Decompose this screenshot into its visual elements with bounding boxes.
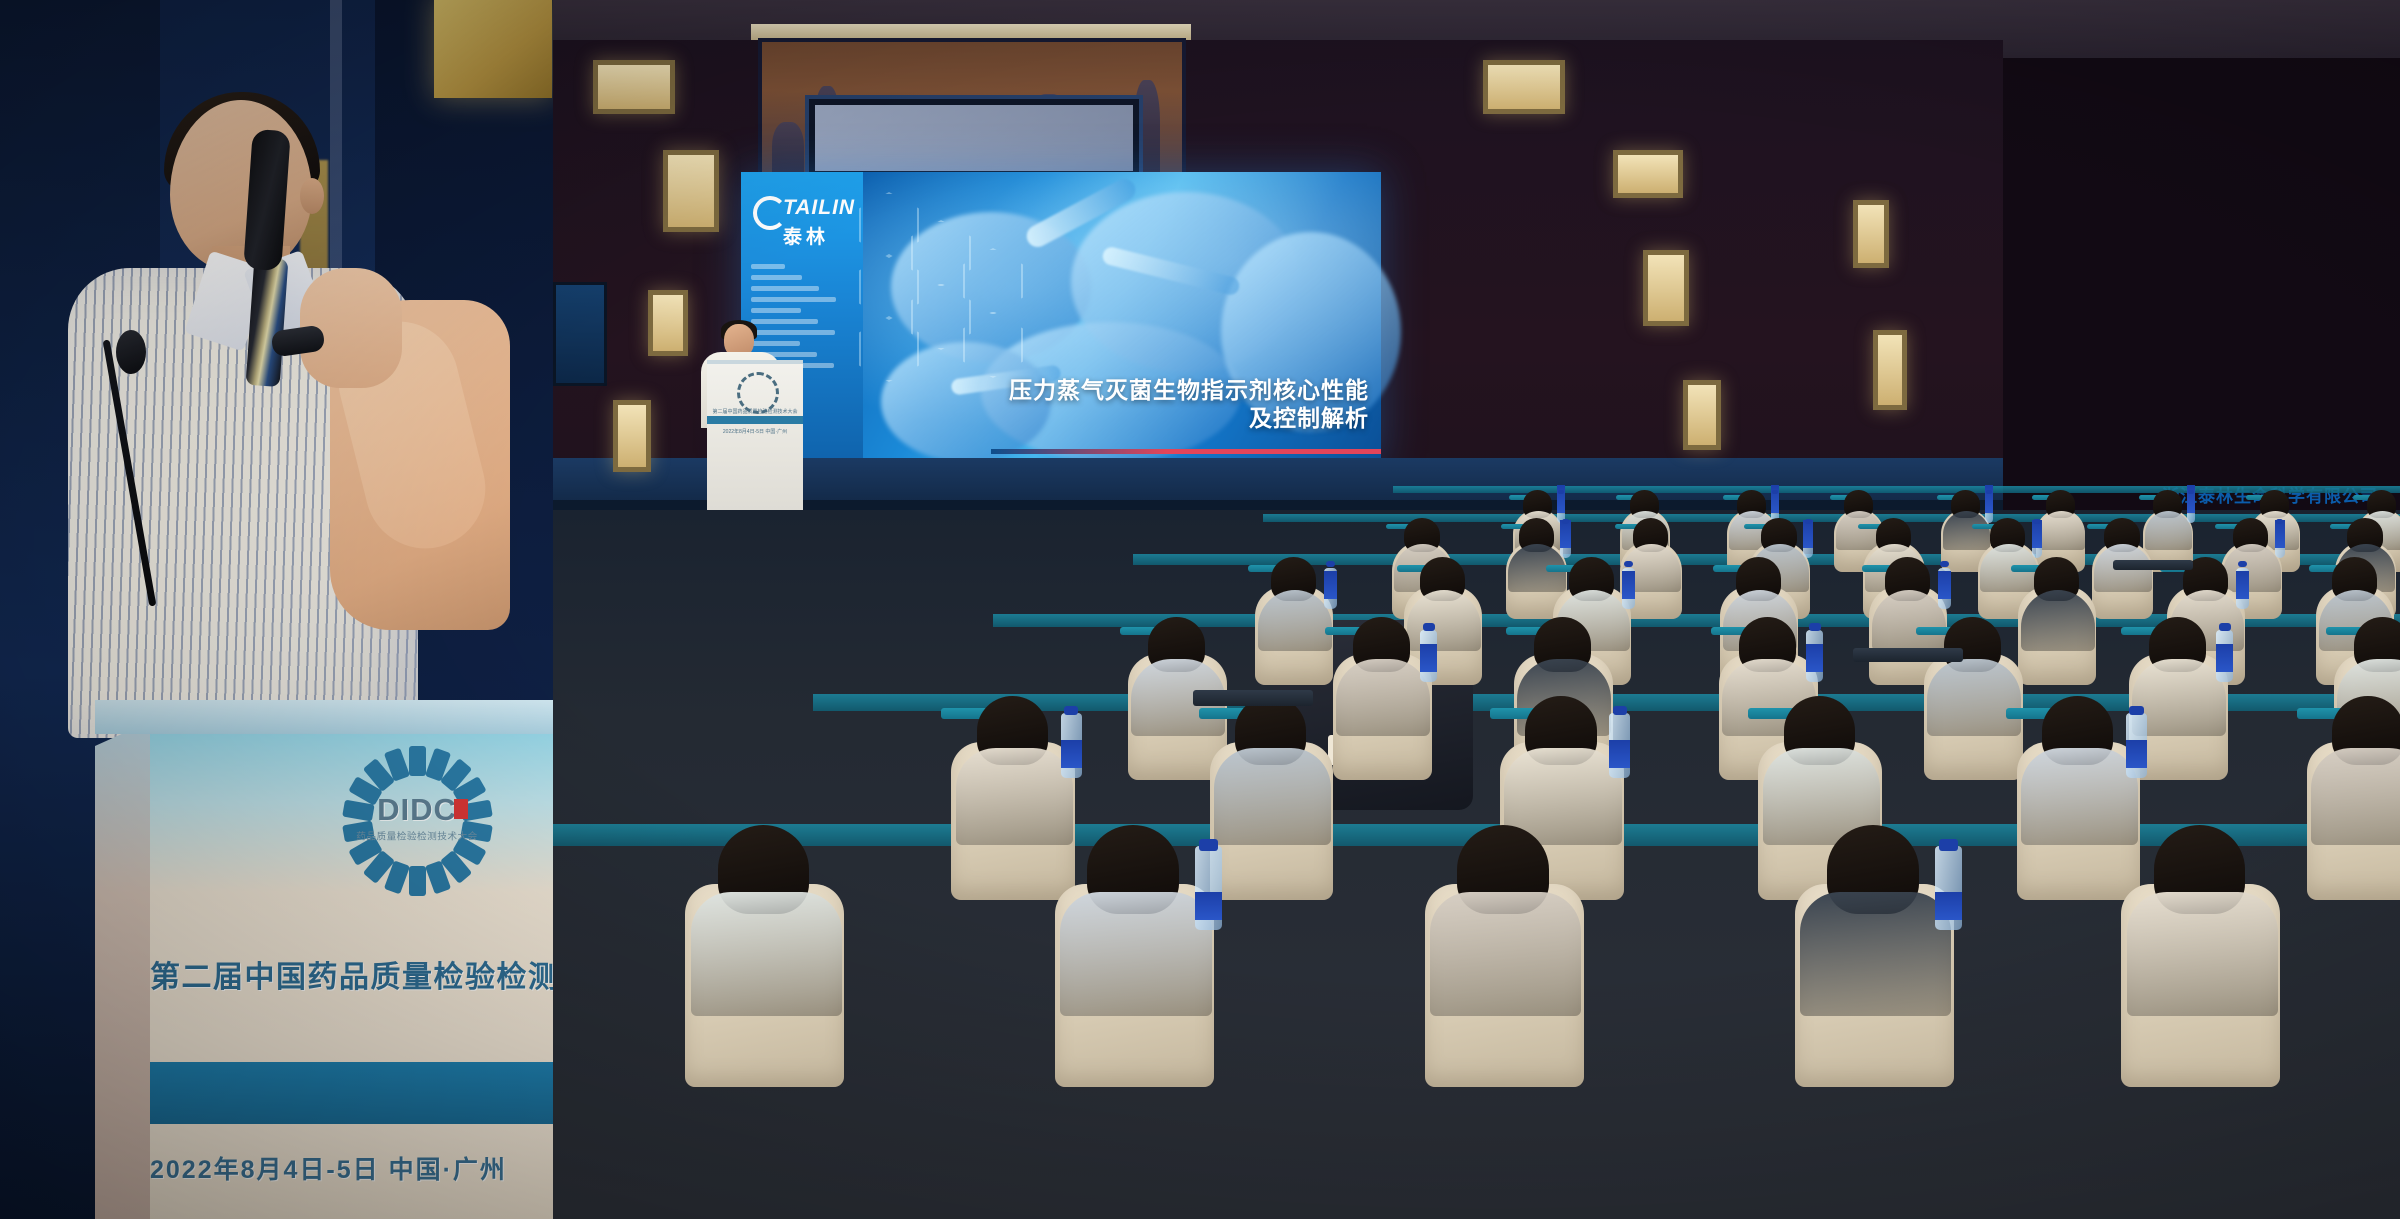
attendee-shoulders [2127, 892, 2278, 1016]
slide-title: 压力蒸气灭菌生物指示剂核心性能 及控制解析 [1009, 376, 1369, 432]
bottle-cap [1423, 623, 1435, 631]
laptop-icon [1853, 648, 1963, 662]
didc-accent-square [454, 799, 468, 819]
water-bottle-icon [1195, 846, 1222, 930]
wall-light-panel [1683, 380, 1721, 450]
hexagon-icon [859, 316, 919, 382]
bottle-cap [1624, 561, 1633, 567]
didc-center: DIDC 药品质量检验检测技术大会 [368, 790, 466, 852]
bottle-label [1061, 740, 1082, 768]
water-bottle-icon [2236, 568, 2249, 609]
wall-light-panel [1613, 150, 1683, 198]
bottle-cap [1772, 490, 1778, 494]
slide-title-line1: 压力蒸气灭菌生物指示剂核心性能 [1009, 376, 1369, 404]
water-bottle-icon [1806, 630, 1823, 682]
hexagon-icon [911, 220, 971, 286]
bottle-label [1420, 644, 1437, 672]
bottle-label [1609, 740, 1630, 768]
bottle-label [2126, 740, 2147, 768]
tailin-wordmark-cn: 泰林 [783, 222, 829, 249]
hexagon-icon [963, 312, 1023, 378]
conference-hall: TAILIN 泰林 压力蒸气灭菌生物指示剂核心性能 及控制解析 浙江泰林生命科学… [553, 0, 2400, 1219]
water-bottle-icon [1985, 497, 1993, 523]
bottle-label [1935, 892, 1962, 920]
bottle-label [1806, 644, 1823, 672]
wall-light-panel [648, 290, 688, 356]
presentation-screen: TAILIN 泰林 压力蒸气灭菌生物指示剂核心性能 及控制解析 [741, 172, 1381, 467]
attendee-shoulders [1258, 590, 1332, 651]
attendee-shoulders [956, 748, 1074, 845]
slide-ui-line [751, 319, 818, 324]
bottle-label [1803, 520, 1813, 548]
water-bottle-icon [2275, 526, 2285, 558]
bottle-cap [1562, 519, 1569, 524]
bottle-cap [1558, 490, 1564, 494]
water-bottle-icon [1622, 568, 1635, 609]
bottle-cap [1939, 839, 1958, 851]
bottle-cap [1986, 490, 1992, 494]
attendee-shoulders [1872, 590, 1946, 651]
hexagon-icon [911, 284, 971, 350]
lectern-date: 2022年8月4日-5日 中国·广州 [711, 428, 799, 435]
slide-title-line2: 及控制解析 [1009, 404, 1369, 432]
bottle-label [1938, 571, 1951, 599]
water-bottle-icon [2187, 497, 2195, 523]
wall-light-panel [613, 400, 651, 472]
slide-ui-line [751, 308, 801, 313]
water-bottle-icon [1061, 713, 1082, 778]
wall-light-panel [1853, 200, 1889, 268]
bottle-label [1560, 520, 1570, 548]
bottle-label [1622, 571, 1635, 599]
wall-light-panel [1483, 60, 1565, 114]
wall-light-panel [663, 150, 719, 232]
didc-logo: DIDC 药品质量检验检测技术大会 [342, 746, 492, 896]
bottle-label [2236, 571, 2249, 599]
bottle-cap [2276, 519, 2283, 524]
bottle-cap [2129, 706, 2144, 715]
attendee-shoulders [2311, 748, 2400, 845]
podium: DIDC 药品质量检验检测技术大会 第二届中国药品质量检验检测技术大会 2022… [95, 700, 553, 1219]
stage-monitor [553, 282, 607, 386]
attendee-shoulders [1430, 892, 1581, 1016]
attendee-shoulders [2145, 511, 2192, 550]
slide-ui-line [751, 264, 785, 269]
attendee-shoulders [1800, 892, 1951, 1016]
gold-wall-panel [434, 0, 552, 98]
upper-display-surface [815, 105, 1133, 171]
podium-title: 第二届中国药品质量检验检测技术大会 [150, 952, 553, 996]
speaker-panel: DIDC 药品质量检验检测技术大会 第二届中国药品质量检验检测技术大会 2022… [0, 0, 553, 1219]
upper-display-frame [805, 95, 1143, 181]
slide-ui-line [751, 297, 836, 302]
bottle-cap [1064, 706, 1079, 715]
water-bottle-icon [1609, 713, 1630, 778]
bottle-cap [2033, 519, 2040, 524]
laptop-icon [2113, 560, 2193, 570]
tailin-logo-icon [753, 196, 787, 230]
bottle-label [2216, 644, 2233, 672]
attendee-shoulders [2021, 590, 2095, 651]
bottle-label [1324, 571, 1337, 599]
hexagon-icon [859, 192, 919, 258]
attendee-shoulders [1214, 748, 1332, 845]
water-bottle-icon [2216, 630, 2233, 682]
attendee-shoulders [1943, 511, 1990, 550]
attendee-shoulders [2223, 544, 2281, 592]
bottle-cap [1809, 623, 1821, 631]
water-bottle-icon [2126, 713, 2147, 778]
didc-wordmark: DIDC [368, 790, 466, 830]
bottle-cap [2238, 561, 2247, 567]
water-bottle-icon [1938, 568, 1951, 609]
attendee-shoulders [1336, 659, 1430, 736]
bottle-label [2032, 520, 2042, 548]
wall-light-panel [1873, 330, 1907, 410]
bottle-label [2275, 520, 2285, 548]
water-bottle-icon [1560, 526, 1570, 558]
tailin-brand-block: TAILIN 泰林 [751, 190, 859, 254]
water-bottle-icon [2032, 526, 2042, 558]
speaker-ear [300, 178, 324, 214]
podium-date-location: 2022年8月4日-5日 中国·广州 [150, 1150, 553, 1186]
tailin-wordmark: TAILIN [783, 196, 855, 220]
wall-light-panel [593, 60, 675, 114]
attendee-shoulders [1060, 892, 1211, 1016]
didc-ring-segment [409, 866, 426, 896]
slide-accent-rule [991, 449, 1381, 454]
didc-subtitle: 药品质量检验检测技术大会 [368, 829, 466, 844]
water-bottle-icon [1803, 526, 1813, 558]
bottle-cap [1199, 839, 1218, 851]
water-bottle-icon [1420, 630, 1437, 682]
laptop-icon [1193, 690, 1313, 706]
lectern-title: 第二届中国药品质量检验检测技术大会 [711, 408, 799, 415]
attendee-shoulders [1927, 659, 2021, 736]
bottle-cap [1326, 561, 1335, 567]
hexagon-icon [963, 248, 1023, 314]
bottle-cap [1940, 561, 1949, 567]
bottle-cap [1805, 519, 1812, 524]
podium-top-edge [95, 700, 553, 734]
podium-accent-band [150, 1062, 553, 1124]
didc-ring-segment [409, 746, 426, 776]
bottle-cap [2219, 623, 2231, 631]
gooseneck-mic-icon [116, 330, 146, 374]
water-bottle-icon [1935, 846, 1962, 930]
lectern-accent-band [707, 416, 803, 424]
bottle-cap [2188, 490, 2194, 494]
attendee-shoulders [691, 892, 842, 1016]
attendee-shoulders [2021, 748, 2139, 845]
conference-photo: DIDC 药品质量检验检测技术大会 第二届中国药品质量检验检测技术大会 2022… [0, 0, 2400, 1219]
slide-ui-line [751, 275, 802, 280]
attendee-shoulders [1407, 590, 1481, 651]
water-bottle-icon [1324, 568, 1337, 609]
slide-ui-line [751, 330, 835, 335]
attendee-shoulders [2038, 511, 2085, 550]
slide-ui-line [751, 286, 819, 291]
podium-side [95, 718, 157, 1219]
slide-ui-line [751, 341, 800, 346]
bottle-label [1195, 892, 1222, 920]
hexagon-graphics [859, 192, 1019, 382]
bottle-cap [1613, 706, 1628, 715]
hexagon-icon [859, 254, 919, 320]
wall-light-panel [1643, 250, 1689, 326]
